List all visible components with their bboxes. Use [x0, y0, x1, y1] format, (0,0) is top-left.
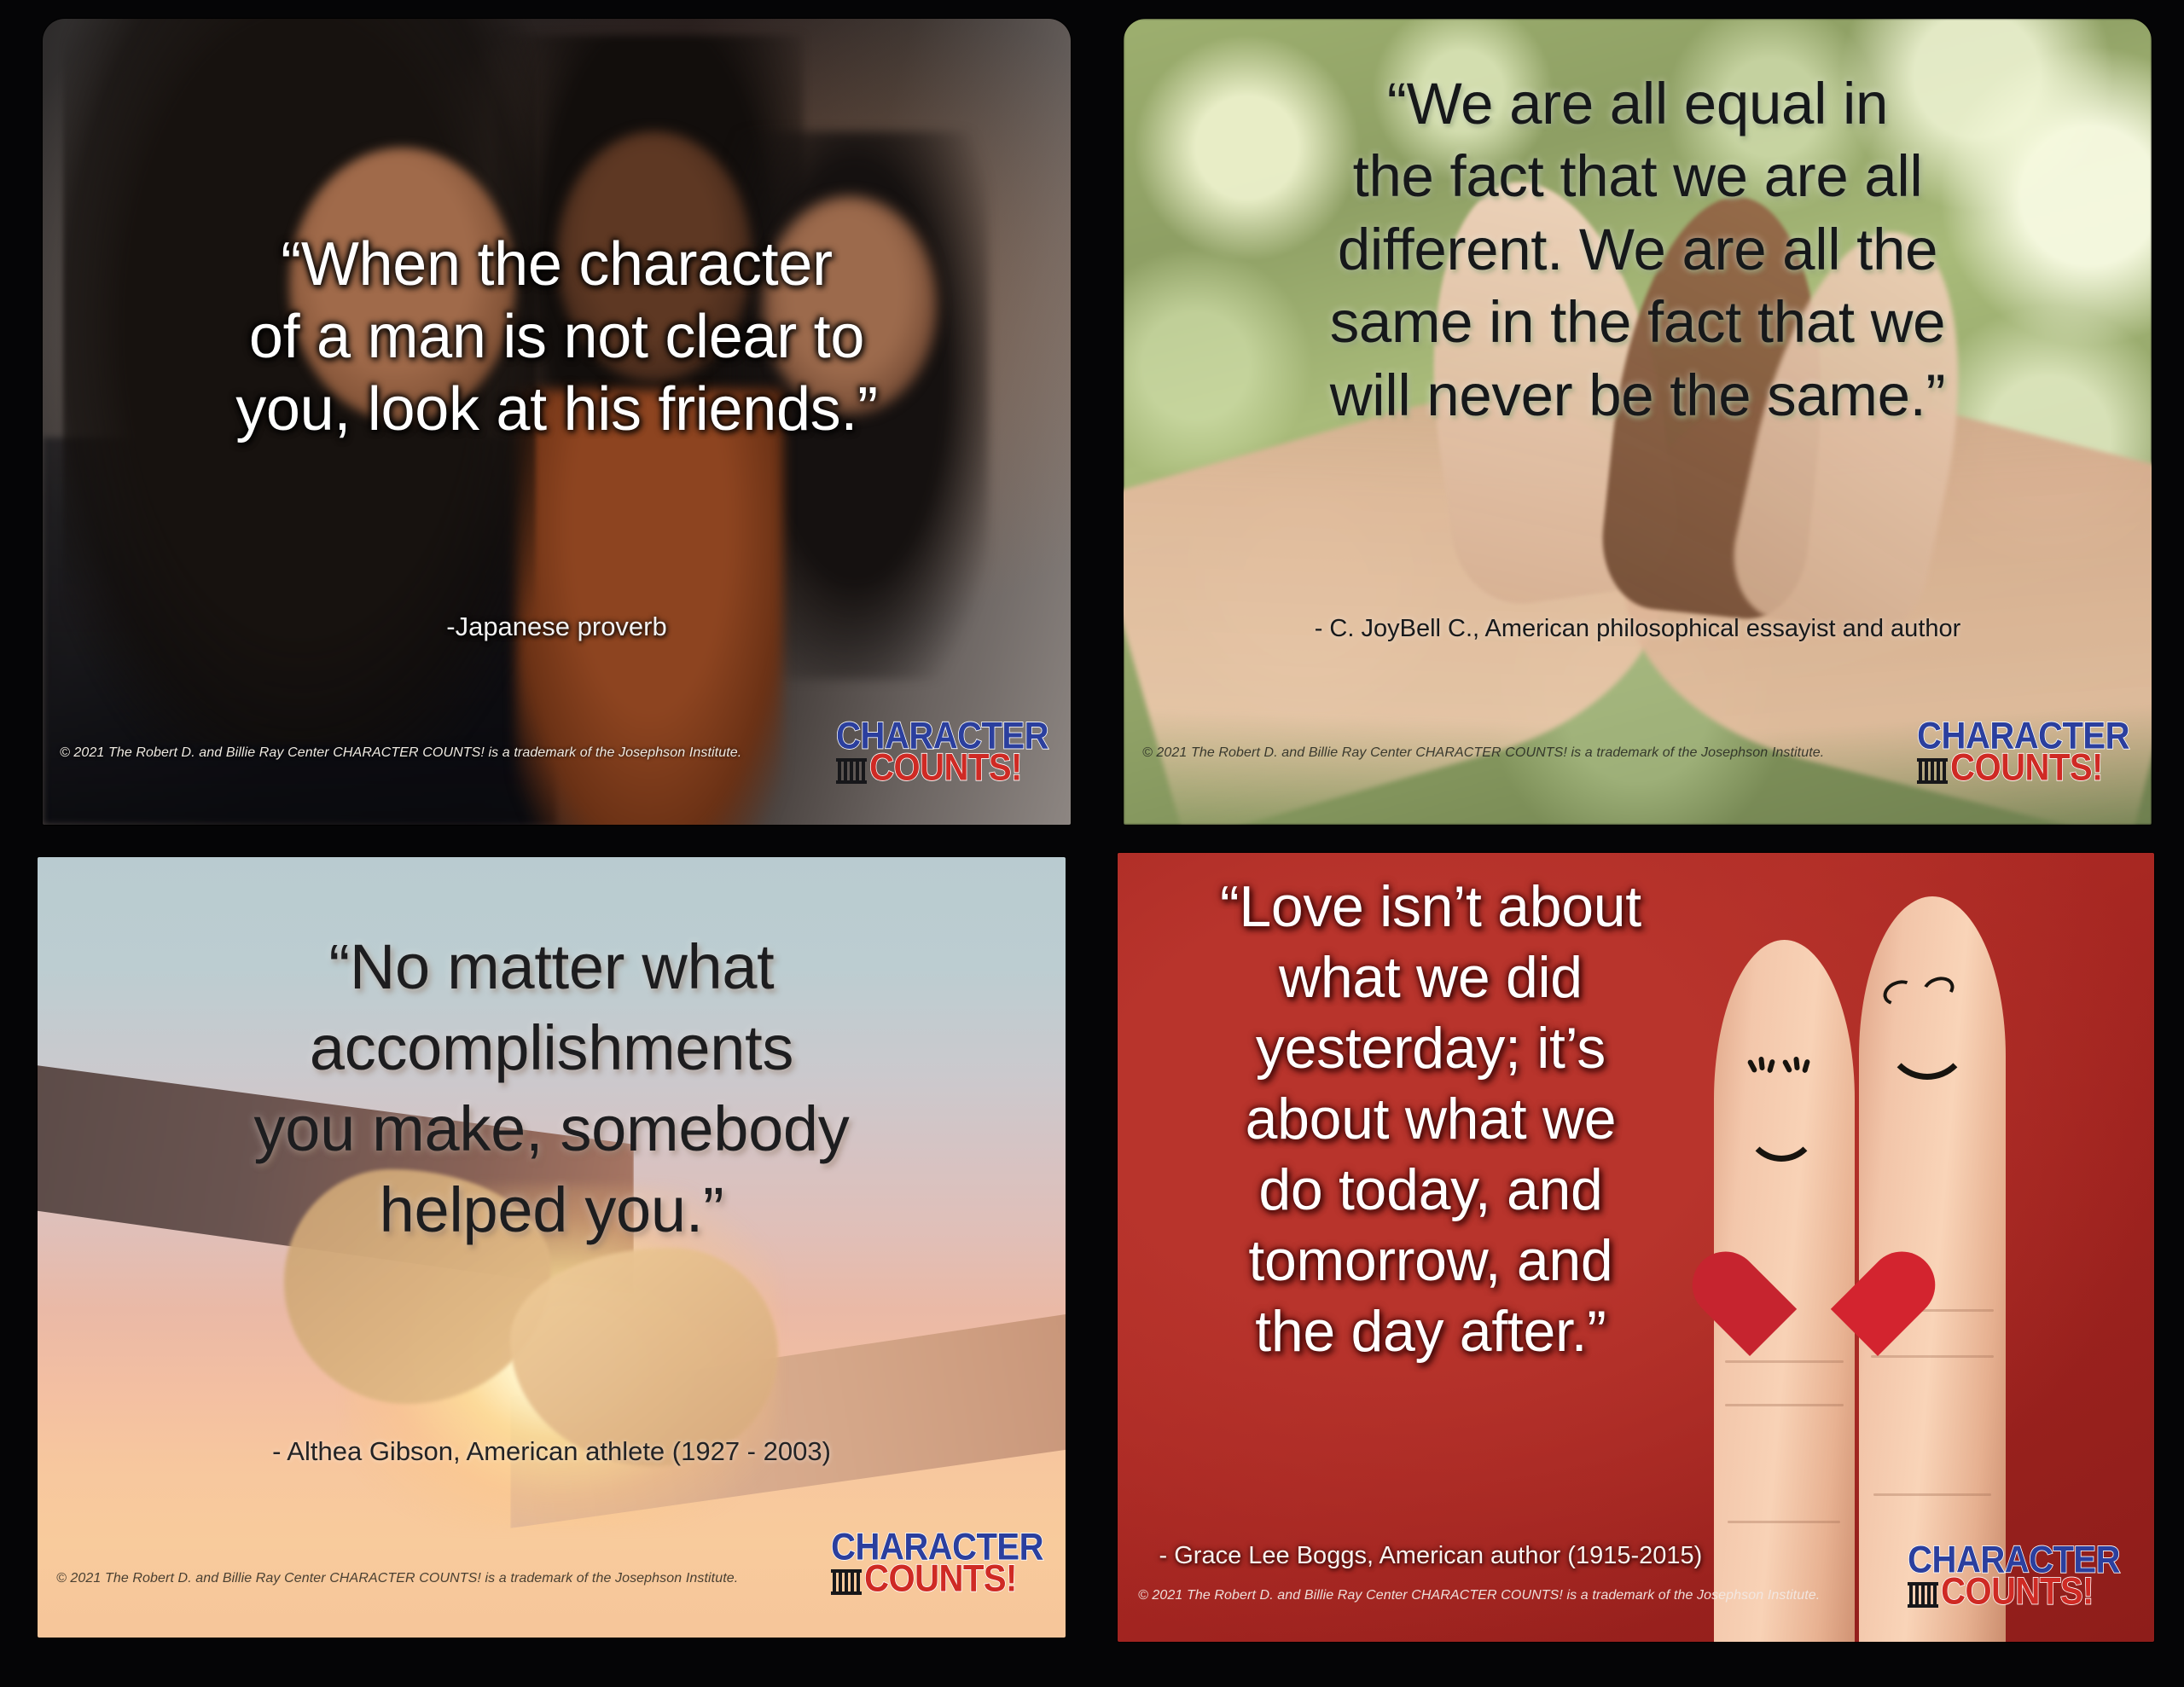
pillar-icon	[831, 1569, 862, 1595]
logo-second-row: COUNTS!	[1917, 754, 2103, 786]
copyright-notice: © 2021 The Robert D. and Billie Ray Cent…	[1142, 745, 1824, 761]
character-counts-logo[interactable]: CHARACTER COUNTS!	[836, 719, 1048, 786]
quote-card-board: “When the character of a man is not clea…	[0, 0, 2184, 1687]
logo-word-counts: COUNTS!	[1941, 1574, 2094, 1609]
quote-card-friends[interactable]: “When the character of a man is not clea…	[43, 19, 1071, 825]
character-counts-logo[interactable]: CHARACTER COUNTS!	[1908, 1543, 2120, 1609]
logo-word-counts: COUNTS!	[869, 751, 1022, 786]
pillar-icon	[836, 758, 867, 784]
logo-word-counts: COUNTS!	[1950, 751, 2103, 786]
quote-text: “Love isn’t about what we did yesterday;…	[1141, 872, 1721, 1367]
quote-attribution: - Grace Lee Boggs, American author (1915…	[1141, 1542, 1721, 1570]
quote-card-love[interactable]: “Love isn’t about what we did yesterday;…	[1118, 853, 2154, 1642]
quote-attribution: - C. JoyBell C., American philosophical …	[1124, 615, 2152, 643]
logo-second-row: COUNTS!	[836, 754, 1022, 786]
quote-attribution: -Japanese proverb	[43, 612, 1071, 642]
copyright-notice: © 2021 The Robert D. and Billie Ray Cent…	[1138, 1588, 1820, 1603]
quote-text: “No matter what accomplishments you make…	[89, 927, 1014, 1250]
pillar-icon	[1917, 758, 1948, 784]
character-counts-logo[interactable]: CHARACTER COUNTS!	[1917, 719, 2129, 786]
quote-attribution: - Althea Gibson, American athlete (1927 …	[38, 1436, 1066, 1467]
logo-second-row: COUNTS!	[831, 1565, 1017, 1597]
card-content: “When the character of a man is not clea…	[43, 19, 1071, 825]
character-counts-logo[interactable]: CHARACTER COUNTS!	[831, 1530, 1043, 1597]
quote-text: “When the character of a man is not clea…	[73, 229, 1040, 446]
logo-second-row: COUNTS!	[1908, 1578, 2094, 1609]
card-content: “No matter what accomplishments you make…	[38, 857, 1066, 1638]
card-content: “Love isn’t about what we did yesterday;…	[1118, 853, 2154, 1642]
logo-word-counts: COUNTS!	[864, 1562, 1017, 1597]
copyright-notice: © 2021 The Robert D. and Billie Ray Cent…	[60, 745, 741, 761]
card-content: “We are all equal in the fact that we ar…	[1124, 19, 2152, 825]
quote-text: “We are all equal in the fact that we ar…	[1175, 67, 2100, 432]
quote-card-accomplishments[interactable]: “No matter what accomplishments you make…	[38, 857, 1066, 1638]
heart-icon	[1750, 1255, 1878, 1375]
quote-card-equal[interactable]: “We are all equal in the fact that we ar…	[1124, 19, 2152, 825]
copyright-notice: © 2021 The Robert D. and Billie Ray Cent…	[56, 1571, 738, 1586]
pillar-icon	[1908, 1582, 1938, 1608]
